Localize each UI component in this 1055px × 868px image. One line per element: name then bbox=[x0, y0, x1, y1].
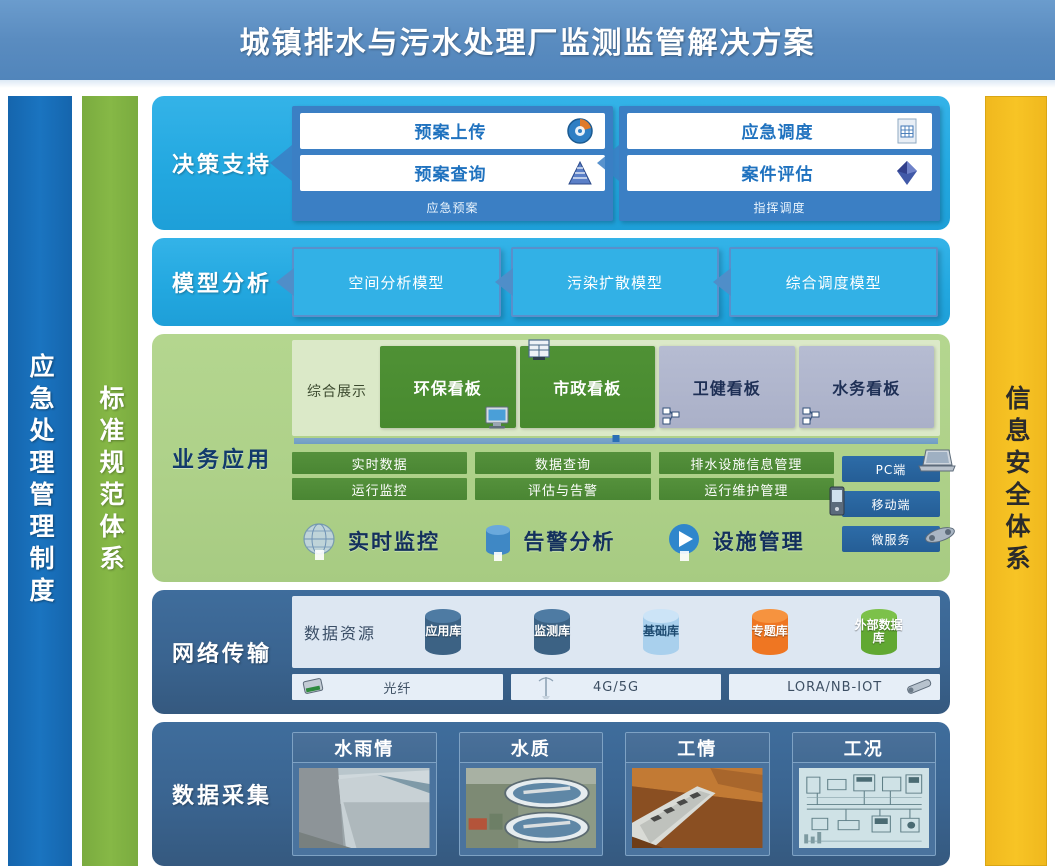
gauge-icon bbox=[565, 116, 595, 146]
decision-item-plan-upload-label: 预案上传 bbox=[310, 118, 565, 143]
sidebar-information-security: 信息安全体系 bbox=[985, 96, 1047, 866]
cylinder-icon: 监测库 bbox=[524, 604, 580, 660]
dashboard-card-health[interactable]: 卫健看板 bbox=[659, 346, 795, 428]
play-icon bbox=[665, 520, 705, 562]
decision-item-plan-query-label: 预案查询 bbox=[310, 160, 565, 185]
database-lead-label: 数据资源 bbox=[304, 620, 384, 644]
model-box-pollution-label: 污染扩散模型 bbox=[567, 272, 663, 293]
chart-node-icon bbox=[801, 406, 821, 426]
decision-group-command-dispatch: 应急调度 案件评估 bbox=[619, 106, 940, 221]
arrow-icon bbox=[597, 145, 619, 181]
data-card-rainfall[interactable]: 水雨情 bbox=[292, 732, 437, 856]
database-icon bbox=[481, 520, 515, 562]
function-big-alarm-analysis[interactable]: 告警分析 bbox=[475, 508, 650, 574]
database-item-external-label: 外部数据库 bbox=[851, 619, 907, 645]
function-big-alarm-analysis-label: 告警分析 bbox=[523, 526, 615, 556]
model-boxes: 空间分析模型 污染扩散模型 综合调度模型 bbox=[292, 247, 950, 317]
device-list: PC端 bbox=[842, 452, 940, 574]
function-big-realtime-monitoring[interactable]: 实时监控 bbox=[292, 508, 467, 574]
arrow-icon bbox=[495, 268, 513, 296]
function-big-facility-management-label: 设施管理 bbox=[713, 526, 805, 556]
decision-item-case-evaluation-label: 案件评估 bbox=[637, 160, 892, 185]
network-link-list: 光纤 4G/5G LORA/NB-IOT bbox=[292, 674, 940, 700]
database-item-application-label: 应用库 bbox=[425, 625, 461, 638]
chart-node-icon bbox=[661, 406, 681, 426]
globe-icon bbox=[298, 520, 340, 562]
layer-network-transmission-label: 网络传输 bbox=[152, 590, 292, 714]
model-box-spatial[interactable]: 空间分析模型 bbox=[292, 247, 501, 317]
function-column-facility: 排水设施信息管理 运行维护管理 设施管理 bbox=[659, 452, 834, 574]
laptop-icon bbox=[916, 446, 956, 476]
dashboard-card-municipal-label: 市政看板 bbox=[553, 375, 621, 399]
sidebar-information-security-label: 信息安全体系 bbox=[998, 385, 1034, 577]
monitor-icon bbox=[482, 402, 512, 432]
layer-data-collection: 数据采集 水雨情 水质 bbox=[152, 722, 950, 866]
dashboard-card-environment-label: 环保看板 bbox=[414, 375, 482, 399]
diamond-icon bbox=[892, 158, 922, 188]
function-big-realtime-monitoring-label: 实时监控 bbox=[348, 526, 440, 556]
sidebar-emergency-management-label: 应急处理管理制度 bbox=[22, 353, 58, 609]
sidebar-emergency-management: 应急处理管理制度 bbox=[8, 96, 72, 866]
data-card-water-quality[interactable]: 水质 bbox=[459, 732, 604, 856]
business-content: 综合展示 环保看板 bbox=[292, 334, 950, 582]
cylinder-icon: 基础库 bbox=[633, 604, 689, 660]
layer-business-application: 业务应用 综合展示 环保看板 bbox=[152, 334, 950, 582]
dashboard-card-water-label: 水务看板 bbox=[832, 375, 900, 399]
page-header: 城镇排水与污水处理厂监测监管解决方案 bbox=[0, 0, 1055, 80]
sidebar-standards-system-label: 标准规范体系 bbox=[92, 385, 128, 577]
model-box-dispatch-label: 综合调度模型 bbox=[786, 272, 882, 293]
database-item-monitoring[interactable]: 监测库 bbox=[503, 604, 602, 660]
database-item-external[interactable]: 外部数据库 bbox=[829, 604, 928, 660]
sensor-icon bbox=[902, 674, 936, 698]
sidebar-standards-system: 标准规范体系 bbox=[82, 96, 138, 866]
spreadsheet-icon bbox=[892, 116, 922, 146]
decision-item-case-evaluation[interactable]: 案件评估 bbox=[627, 155, 932, 191]
function-chip-data-query[interactable]: 数据查询 bbox=[475, 452, 650, 474]
function-area: 实时数据 运行监控 bbox=[292, 452, 940, 574]
database-item-application[interactable]: 应用库 bbox=[394, 604, 493, 660]
data-card-project-status[interactable]: 工情 bbox=[625, 732, 770, 856]
function-chip-realtime-data[interactable]: 实时数据 bbox=[292, 452, 467, 474]
dashboard-card-environment[interactable]: 环保看板 bbox=[380, 346, 516, 428]
device-chip-microservice-label: 微服务 bbox=[871, 531, 910, 548]
function-chip-maintenance-management[interactable]: 运行维护管理 bbox=[659, 478, 834, 500]
device-chip-microservice[interactable]: 微服务 bbox=[842, 526, 940, 552]
model-box-spatial-label: 空间分析模型 bbox=[348, 272, 444, 293]
layer-decision-support: 决策支持 预案上传 预案查询 bbox=[152, 96, 950, 230]
database-item-basic[interactable]: 基础库 bbox=[612, 604, 711, 660]
device-chip-pc[interactable]: PC端 bbox=[842, 456, 940, 482]
pipe-trench-photo bbox=[632, 768, 763, 848]
decision-group-emergency-plan: 预案上传 预案查询 bbox=[292, 106, 613, 221]
dashboard-card-water[interactable]: 水务看板 bbox=[799, 346, 935, 428]
data-collection-cards: 水雨情 水质 bbox=[292, 722, 950, 866]
layer-decision-support-label: 决策支持 bbox=[152, 147, 292, 179]
device-chip-mobile[interactable]: 移动端 bbox=[842, 491, 940, 517]
network-content: 数据资源 应用库 bbox=[292, 590, 950, 714]
cylinder-icon: 专题库 bbox=[742, 604, 798, 660]
mobile-icon bbox=[826, 485, 848, 517]
decision-item-emergency-dispatch-label: 应急调度 bbox=[637, 118, 892, 143]
layer-model-analysis: 模型分析 空间分析模型 污染扩散模型 综合调度模型 bbox=[152, 238, 950, 326]
layer-model-analysis-label: 模型分析 bbox=[152, 266, 292, 298]
architecture-stack: 决策支持 预案上传 预案查询 bbox=[152, 96, 950, 866]
page-title: 城镇排水与污水处理厂监测监管解决方案 bbox=[240, 18, 816, 62]
function-column-monitoring: 实时数据 运行监控 bbox=[292, 452, 467, 574]
network-link-cellular[interactable]: 4G/5G bbox=[511, 674, 722, 700]
model-box-pollution[interactable]: 污染扩散模型 bbox=[511, 247, 720, 317]
decision-item-plan-query[interactable]: 预案查询 bbox=[300, 155, 605, 191]
header-underline bbox=[0, 80, 1055, 88]
dashboard-card-municipal[interactable]: 市政看板 bbox=[520, 346, 656, 428]
data-card-rainfall-label: 水雨情 bbox=[293, 733, 436, 763]
network-link-fiber[interactable]: 光纤 bbox=[292, 674, 503, 700]
device-chip-pc-label: PC端 bbox=[876, 461, 907, 478]
pyramid-icon bbox=[565, 158, 595, 188]
function-chip-operation-monitoring[interactable]: 运行监控 bbox=[292, 478, 467, 500]
layer-network-transmission: 网络传输 数据资源 应用库 bbox=[152, 590, 950, 714]
network-link-lora[interactable]: LORA/NB-IOT bbox=[729, 674, 940, 700]
decision-groups: 预案上传 预案查询 bbox=[292, 106, 950, 221]
database-item-thematic[interactable]: 专题库 bbox=[720, 604, 819, 660]
function-chip-evaluation-alarm[interactable]: 评估与告警 bbox=[475, 478, 650, 500]
fiber-icon bbox=[298, 675, 328, 699]
sedimentation-tank-photo bbox=[466, 768, 597, 848]
function-big-facility-management[interactable]: 设施管理 bbox=[659, 508, 834, 574]
decision-item-emergency-dispatch[interactable]: 应急调度 bbox=[627, 113, 932, 149]
database-panel: 数据资源 应用库 bbox=[292, 596, 940, 668]
service-icon bbox=[922, 522, 958, 548]
dashboard-card-health-label: 卫健看板 bbox=[693, 375, 761, 399]
data-card-operating-condition-label: 工况 bbox=[793, 733, 936, 763]
section-divider bbox=[294, 438, 938, 444]
layer-data-collection-label: 数据采集 bbox=[152, 722, 292, 866]
dashboard-lead-label: 综合展示 bbox=[298, 346, 376, 436]
layer-business-application-label: 业务应用 bbox=[152, 334, 292, 582]
cylinder-icon: 外部数据库 bbox=[851, 604, 907, 660]
database-item-monitoring-label: 监测库 bbox=[534, 625, 570, 638]
network-link-fiber-label: 光纤 bbox=[383, 678, 411, 697]
model-box-dispatch[interactable]: 综合调度模型 bbox=[729, 247, 938, 317]
antenna-icon bbox=[535, 674, 557, 700]
data-card-operating-condition[interactable]: 工况 bbox=[792, 732, 937, 856]
divider-dot bbox=[613, 435, 620, 442]
database-item-basic-label: 基础库 bbox=[643, 625, 679, 638]
data-card-water-quality-label: 水质 bbox=[460, 733, 603, 763]
dashboard-panel: 综合展示 环保看板 bbox=[292, 340, 940, 436]
network-link-lora-label: LORA/NB-IOT bbox=[787, 680, 882, 695]
cylinder-icon: 应用库 bbox=[415, 604, 471, 660]
database-item-thematic-label: 专题库 bbox=[752, 625, 788, 638]
window-icon bbox=[524, 336, 554, 366]
decision-group-command-dispatch-caption: 指挥调度 bbox=[627, 197, 932, 218]
device-chip-mobile-label: 移动端 bbox=[871, 496, 910, 513]
decision-item-plan-upload[interactable]: 预案上传 bbox=[300, 113, 605, 149]
function-column-alarm: 数据查询 评估与告警 告警分析 bbox=[475, 452, 650, 574]
canal-photo bbox=[299, 768, 430, 848]
data-card-project-status-label: 工情 bbox=[626, 733, 769, 763]
arrow-icon bbox=[713, 268, 731, 296]
function-chip-drainage-facility-info[interactable]: 排水设施信息管理 bbox=[659, 452, 834, 474]
scada-diagram bbox=[799, 768, 930, 848]
decision-group-emergency-plan-caption: 应急预案 bbox=[300, 197, 605, 218]
network-link-cellular-label: 4G/5G bbox=[593, 680, 639, 695]
